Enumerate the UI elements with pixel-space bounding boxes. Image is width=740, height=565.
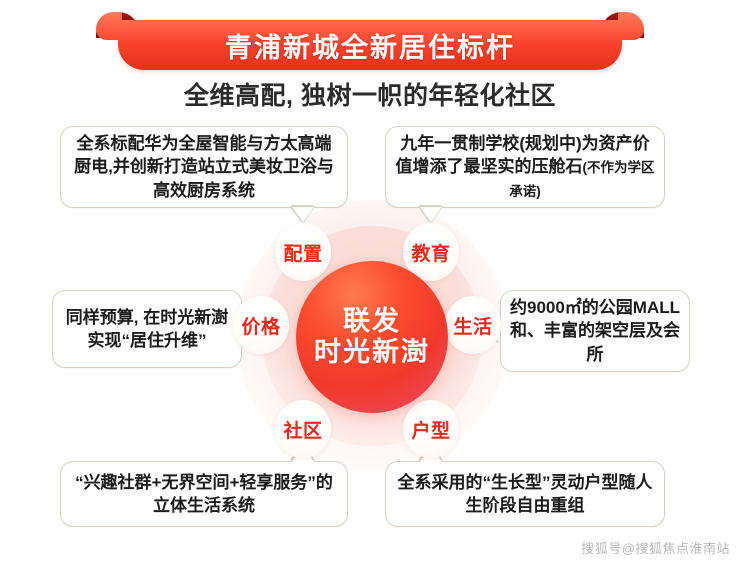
callout-text-unit-type: 全系采用的“生长型”灵动户型随人生阶段自由重组: [394, 471, 656, 518]
center-title-line-1: 联发: [343, 306, 401, 337]
node-unit-type[interactable]: 户型: [403, 400, 459, 458]
center-title-line-2: 时光新澍: [314, 337, 430, 368]
page-subtitle: 全维高配, 独树一帜的年轻化社区: [0, 76, 740, 112]
center-circle: 联发 时光新澍: [296, 261, 448, 413]
callout-text-price: 同样预算, 在时光新澍实现“居住升维”: [61, 306, 233, 353]
banner-ribbon: 青浦新城全新居住标杆: [96, 12, 644, 70]
node-label-price: 价格: [241, 312, 280, 339]
callout-text-education: 九年一贯制学校(规划中)为资产价值增添了最坚实的压舱石(不作为学区承诺): [394, 132, 656, 202]
node-price[interactable]: 价格: [233, 296, 289, 354]
node-configuration[interactable]: 配置: [275, 223, 331, 281]
node-community[interactable]: 社区: [275, 400, 331, 458]
node-label-configuration: 配置: [283, 239, 322, 266]
pointer-tail-education: [420, 207, 442, 222]
callout-box-life: 约9000㎡的公园MALL和、丰富的架空层及会所: [500, 290, 690, 372]
callout-text-configuration: 全系标配华为全屋智能与方太高端厨电,并创新打造站立式美妆卫浴与高效厨房系统: [69, 132, 339, 202]
callout-box-community: “兴趣社群+无界空间+轻享服务”的立体生活系统: [60, 461, 348, 527]
infographic-canvas: 青浦新城全新居住标杆 全维高配, 独树一帜的年轻化社区 全系标配华为全屋智能与方…: [0, 0, 740, 565]
banner-title: 青浦新城全新居住标杆: [96, 12, 644, 70]
callout-box-education: 九年一贯制学校(规划中)为资产价值增添了最坚实的压舱石(不作为学区承诺): [385, 126, 665, 208]
callout-text-life: 约9000㎡的公园MALL和、丰富的架空层及会所: [509, 296, 681, 366]
callout-box-configuration: 全系标配华为全屋智能与方太高端厨电,并创新打造站立式美妆卫浴与高效厨房系统: [60, 126, 348, 208]
watermark-text: 搜狐号@搜狐焦点淮南站: [581, 538, 730, 557]
node-life[interactable]: 生活: [445, 296, 501, 354]
pointer-tail-configuration: [292, 207, 314, 222]
callout-text-community: “兴趣社群+无界空间+轻享服务”的立体生活系统: [69, 471, 339, 518]
node-label-community: 社区: [283, 416, 322, 443]
callout-box-price: 同样预算, 在时光新澍实现“居住升维”: [52, 290, 242, 368]
node-label-life: 生活: [453, 312, 492, 339]
node-label-education: 教育: [411, 239, 450, 266]
node-label-unit-type: 户型: [411, 416, 450, 443]
callout-box-unit-type: 全系采用的“生长型”灵动户型随人生阶段自由重组: [385, 461, 665, 527]
